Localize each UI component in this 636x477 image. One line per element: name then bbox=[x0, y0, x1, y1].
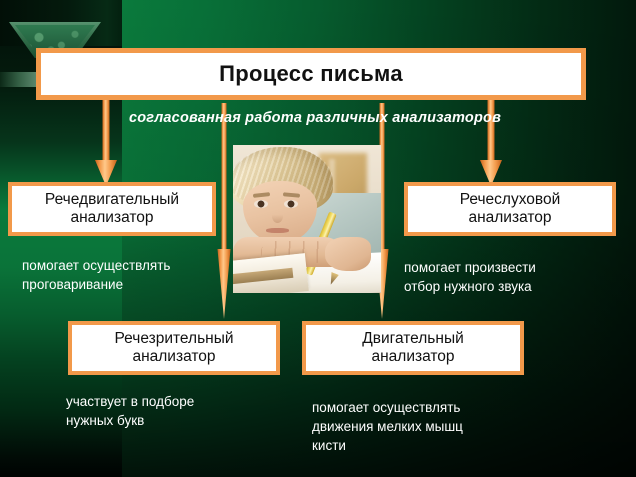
box-speech-visual-analyzer: Речезрительный анализатор bbox=[68, 321, 280, 375]
photo-nose bbox=[272, 209, 283, 223]
box-speech-motor-analyzer: Речедвигательный анализатор bbox=[8, 182, 216, 236]
photo-boy-writing bbox=[233, 145, 381, 293]
background-left-band-top bbox=[0, 0, 122, 46]
subtitle-text: согласованная работа различных анализато… bbox=[100, 110, 530, 126]
photo-eye-left bbox=[254, 200, 268, 208]
slide-canvas: Процесс письма согласованная работа разл… bbox=[0, 0, 636, 477]
caption-speech-auditory: помогает произвести отбор нужного звука bbox=[404, 258, 604, 296]
box-speech-visual-label: Речезрительный анализатор bbox=[108, 330, 239, 367]
photo-eye-right bbox=[284, 200, 298, 208]
box-motor-analyzer: Двигательный анализатор bbox=[302, 321, 524, 375]
caption-speech-motor: помогает осуществлять проговаривание bbox=[22, 256, 222, 294]
caption-speech-visual: участвует в подборе нужных букв bbox=[66, 392, 276, 430]
photo-writing-hand bbox=[325, 237, 371, 271]
box-speech-auditory-label: Речеслуховой анализатор bbox=[454, 191, 567, 228]
box-speech-auditory-analyzer: Речеслуховой анализатор bbox=[404, 182, 616, 236]
title-box: Процесс письма bbox=[36, 48, 586, 100]
box-speech-motor-label: Речедвигательный анализатор bbox=[39, 191, 185, 228]
caption-motor: помогает осуществлять движения мелких мы… bbox=[312, 398, 542, 455]
box-motor-label: Двигательный анализатор bbox=[356, 330, 470, 367]
page-title: Процесс письма bbox=[213, 61, 409, 87]
photo-mouth bbox=[266, 228, 289, 233]
